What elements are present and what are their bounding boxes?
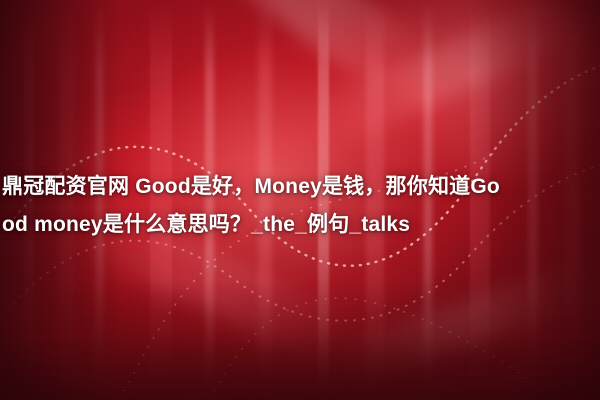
image-canvas: 鼎冠配资官网 Good是好，Money是钱，那你知道Go od money是什么… [0,0,600,400]
overlay-headline: 鼎冠配资官网 Good是好，Money是钱，那你知道Go od money是什么… [0,168,600,244]
headline-line-2: od money是什么意思吗？_the_例句_talks [2,206,598,244]
headline-line-1: 鼎冠配资官网 Good是好，Money是钱，那你知道Go [2,175,500,198]
